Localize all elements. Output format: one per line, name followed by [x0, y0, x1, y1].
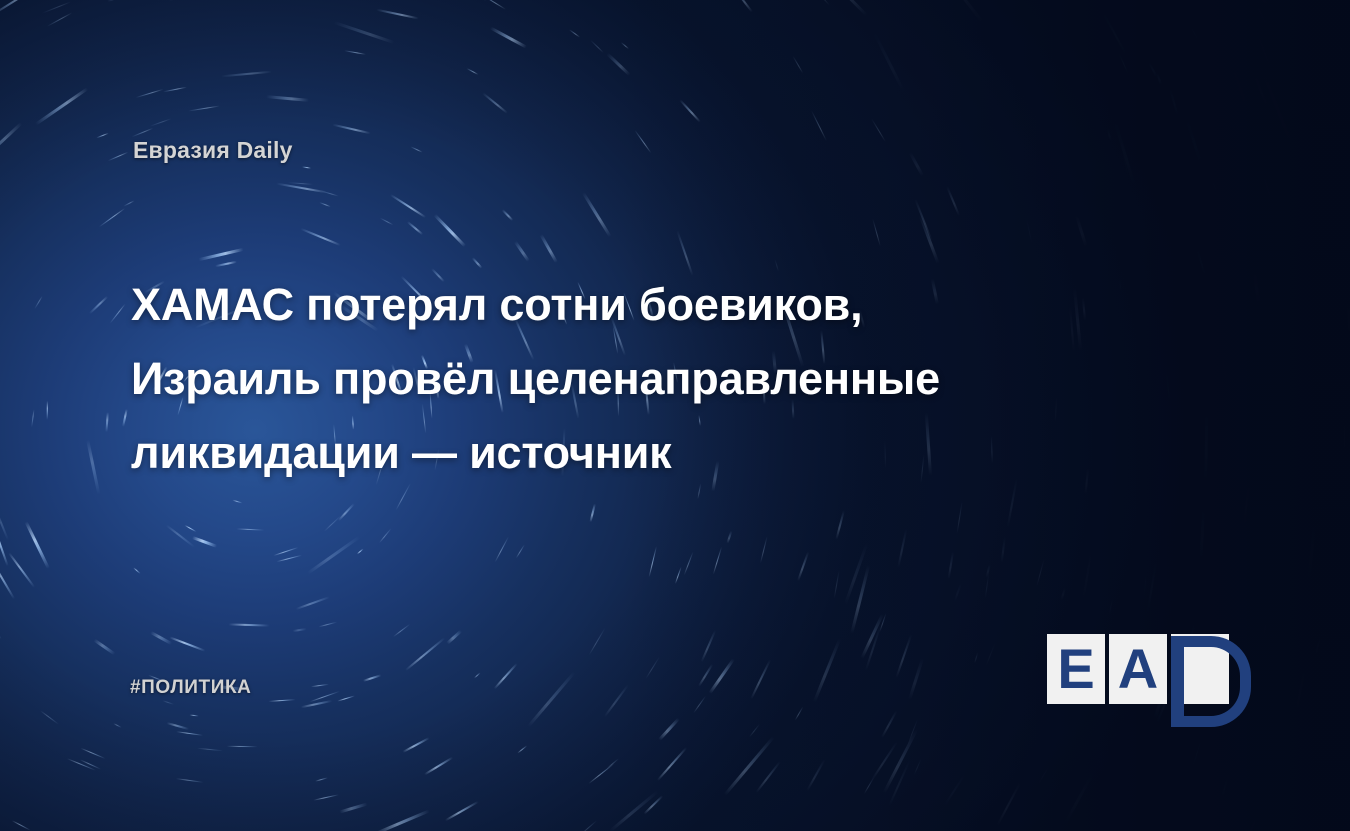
logo-letter-a: A [1109, 634, 1167, 704]
brand-name: Евразия Daily [133, 137, 293, 164]
share-card: Евразия Daily ХАМАС потерял сотни боевик… [0, 0, 1350, 831]
headline: ХАМАС потерял сотни боевиков, Израиль пр… [131, 268, 1141, 490]
headline-line-2: Израиль провёл целенаправленные [131, 342, 1141, 416]
headline-line-1: ХАМАС потерял сотни боевиков, [131, 268, 1141, 342]
logo-letter-e: E [1047, 634, 1105, 704]
category-hashtag[interactable]: #ПОЛИТИКА [130, 677, 252, 699]
eadaily-logo: E A [1047, 634, 1233, 718]
logo-letter-d [1171, 634, 1257, 718]
headline-line-3: ликвидации — источник [131, 416, 1141, 490]
